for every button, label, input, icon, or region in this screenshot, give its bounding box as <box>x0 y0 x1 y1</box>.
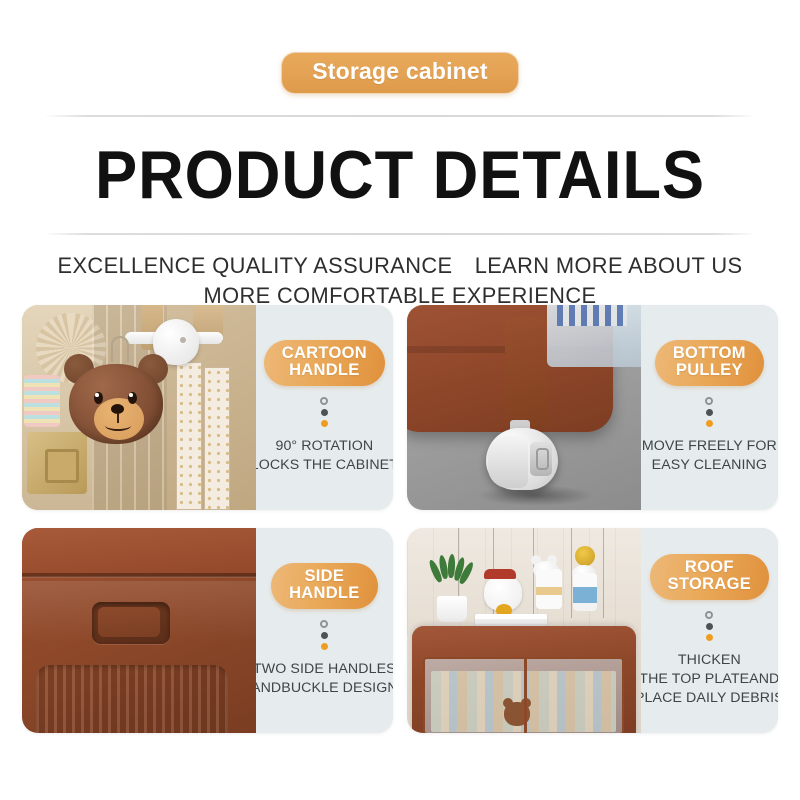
feature-card-side-handle[interactable]: SIDE HANDLE TWO SIDE HANDLES ANDBUCKLE D… <box>22 528 393 733</box>
dot-separator <box>320 397 328 427</box>
caption-line-2: EASY CLEANING <box>642 456 777 475</box>
dot-dark-icon <box>706 409 713 416</box>
dot-orange-icon <box>321 643 328 650</box>
feature-card-grid: CARTOON HANDLE 90° ROTATION LOCKS THE CA… <box>22 305 778 733</box>
badge-line-1: BOTTOM <box>673 345 746 362</box>
badge-roof-storage: ROOF STORAGE <box>650 554 769 600</box>
handle-inner-grip <box>98 607 160 637</box>
dotted-paper-roll-b <box>204 367 230 511</box>
dot-separator <box>320 620 328 650</box>
badge-side-handle: SIDE HANDLE <box>271 563 378 609</box>
caption-line-1: TWO SIDE HANDLES <box>251 660 393 679</box>
page-title: PRODUCT DETAILS <box>28 117 772 227</box>
dot-dark-icon <box>706 623 713 630</box>
badge-line-1: ROOF <box>668 559 751 576</box>
caster-wheel-icon <box>486 428 558 490</box>
caption-roof-storage: THICKEN THE TOP PLATEAND PLACE DAILY DEB… <box>635 651 778 707</box>
feature-card-roof-storage[interactable]: ROOF STORAGE THICKEN THE TOP PLATEAND PL… <box>407 528 778 733</box>
dot-separator <box>705 611 713 641</box>
info-panel-bottom-pulley: BOTTOM PULLEY MOVE FREELY FOR EASY CLEAN… <box>641 305 778 510</box>
feature-card-cartoon-handle[interactable]: CARTOON HANDLE 90° ROTATION LOCKS THE CA… <box>22 305 393 510</box>
dot-orange-icon <box>706 634 713 641</box>
caption-line-2: LOCKS THE CABINET <box>251 456 393 475</box>
dot-separator <box>705 397 713 427</box>
dot-dark-icon <box>321 632 328 639</box>
photo-roof-storage <box>407 528 641 733</box>
snake-plant-icon <box>430 555 472 581</box>
cabinet-notch <box>505 317 547 428</box>
info-panel-roof-storage: ROOF STORAGE THICKEN THE TOP PLATEAND PL… <box>641 528 778 733</box>
badge-line-2: HANDLE <box>289 585 360 602</box>
badge-line-2: HANDLE <box>282 362 367 379</box>
dot-hollow-icon <box>705 611 713 619</box>
dot-orange-icon <box>321 420 328 427</box>
caption-line-1: MOVE FREELY FOR <box>642 437 777 456</box>
badge-cartoon-handle: CARTOON HANDLE <box>264 340 385 386</box>
caption-line-2: THE TOP PLATEAND <box>635 670 778 689</box>
caption-line-1: THICKEN <box>635 651 778 670</box>
caption-line-2: ANDBUCKLE DESIGN <box>251 679 393 698</box>
storage-cabinet-badge: Storage cabinet <box>281 52 519 94</box>
bear-handle-icon <box>66 358 166 446</box>
caption-bottom-pulley: MOVE FREELY FOR EASY CLEANING <box>642 437 777 474</box>
photo-caster-wheel <box>407 305 641 510</box>
caption-side-handle: TWO SIDE HANDLES ANDBUCKLE DESIGN <box>251 660 393 697</box>
wheel-tread <box>488 436 528 488</box>
badge-line-1: SIDE <box>289 568 360 585</box>
top-banner: Storage cabinet <box>0 0 800 94</box>
hanging-cord-5 <box>603 528 604 618</box>
feature-card-bottom-pulley[interactable]: BOTTOM PULLEY MOVE FREELY FOR EASY CLEAN… <box>407 305 778 510</box>
dot-hollow-icon <box>320 620 328 628</box>
wheel-brake-lever <box>530 442 552 476</box>
lucky-cat-hat <box>484 569 516 579</box>
bear-head <box>69 364 163 444</box>
plant-pot <box>437 596 467 622</box>
photo-bear-handle <box>22 305 256 510</box>
ribbed-panel <box>36 665 228 733</box>
badge-line-2: PULLEY <box>673 362 746 379</box>
storage-cabinet-badge-label: Storage cabinet <box>312 58 488 84</box>
bear-figurine-2 <box>573 573 597 611</box>
dot-hollow-icon <box>705 397 713 405</box>
subtitle-line-1: EXCELLENCE QUALITY ASSURANCE LEARN MORE … <box>12 251 788 281</box>
recessed-handle <box>92 602 170 644</box>
items-behind-glass <box>557 305 627 326</box>
subtitle-block: EXCELLENCE QUALITY ASSURANCE LEARN MORE … <box>0 235 800 311</box>
dot-dark-icon <box>321 409 328 416</box>
dotted-paper-roll-a <box>176 362 202 510</box>
caption-line-3: PLACE DAILY DEBRIS <box>635 689 778 708</box>
caption-line-1: 90° ROTATION <box>251 437 393 456</box>
info-panel-side-handle: SIDE HANDLE TWO SIDE HANDLES ANDBUCKLE D… <box>256 528 393 733</box>
cabinet-seam-highlight <box>22 576 256 578</box>
caption-cartoon-handle: 90° ROTATION LOCKS THE CABINET <box>251 437 393 474</box>
bear-eye-right <box>128 392 137 404</box>
badge-line-2: STORAGE <box>668 576 751 593</box>
dot-hollow-icon <box>320 397 328 405</box>
bear-figurine-1 <box>536 569 562 609</box>
dot-orange-icon <box>706 420 713 427</box>
gold-clasp <box>45 449 79 483</box>
photo-side-handle <box>22 528 256 733</box>
cabinet-top-face <box>22 528 256 573</box>
badge-line-1: CARTOON <box>282 345 367 362</box>
badge-bottom-pulley: BOTTOM PULLEY <box>655 340 764 386</box>
glass-display-doors <box>423 657 624 733</box>
info-panel-cartoon-handle: CARTOON HANDLE 90° ROTATION LOCKS THE CA… <box>256 305 393 510</box>
glass-door-divider <box>524 659 527 733</box>
washi-tape-stack <box>24 375 60 427</box>
